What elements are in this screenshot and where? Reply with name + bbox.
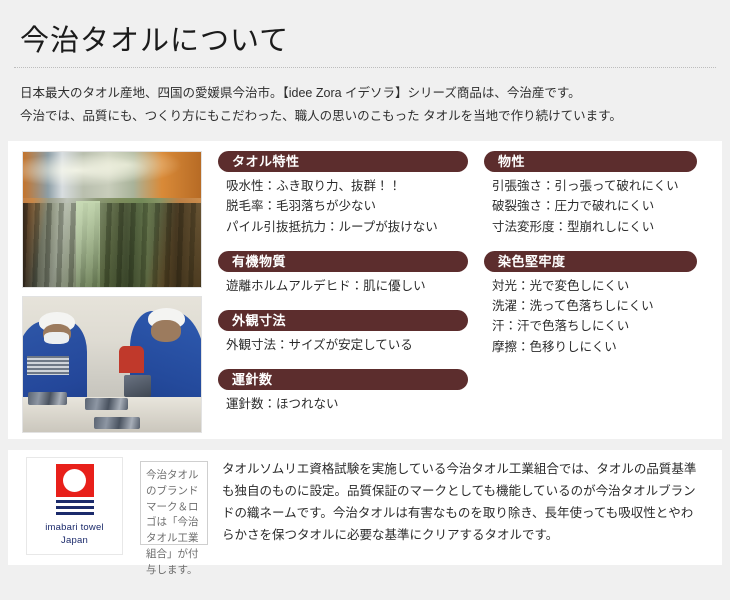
spec-line: 破裂強さ：圧力で破れにくい (492, 196, 714, 216)
worker-face-right (151, 320, 181, 342)
brand-description: タオルソムリエ資格試験を実施している今治タオル工業組合では、タオルの品質基準も独… (222, 459, 712, 547)
spec-group-appearance-dimension: 外観寸法 外観寸法：サイズが安定している (218, 310, 476, 355)
spec-line: 運針数：ほつれない (226, 394, 476, 414)
spec-heading: 有機物質 (218, 251, 468, 272)
logo-caption-box: 今治タオルのブランドマーク＆ロゴは「今治タオル工業組合」が付与します。 (140, 461, 208, 545)
spec-column-right: 物性 引張強さ：引っ張って破れにくい 破裂強さ：圧力で破れにくい 寸法変形度：型… (476, 151, 714, 421)
spec-body: 運針数：ほつれない (218, 390, 476, 414)
spec-body: 吸水性：ふき取り力、抜群！！ 脱毛率：毛羽落ちが少ない パイル引抜抵抗力：ループ… (218, 172, 476, 237)
logo-white-circle-icon (63, 469, 86, 492)
folded-towel (94, 417, 140, 429)
spec-line: 吸水性：ふき取り力、抜群！！ (226, 176, 476, 196)
logo-brand-line-1: imabari towel (45, 522, 104, 535)
spec-line: 対光：光で変色しにくい (492, 276, 714, 296)
spec-group-organic-substance: 有機物質 遊離ホルムアルデヒド：肌に優しい (218, 251, 476, 296)
imabari-towel-logo: imabari towel Japan (26, 457, 123, 555)
spec-body: 引張強さ：引っ張って破れにくい 破裂強さ：圧力で破れにくい 寸法変形度：型崩れし… (484, 172, 714, 237)
title-divider (14, 67, 716, 68)
intro-line-2: 今治では、品質にも、つくり方にもこだわった、職人の思いのこもった タオルを当地で… (20, 105, 716, 128)
spec-panel: タオル特性 吸水性：ふき取り力、抜群！！ 脱毛率：毛羽落ちが少ない パイル引抜抵… (8, 141, 722, 439)
workers-folding-photo (22, 296, 202, 433)
spec-body: 遊離ホルムアルデヒド：肌に優しい (218, 272, 476, 296)
spec-heading: 外観寸法 (218, 310, 468, 331)
brand-panel: imabari towel Japan 今治タオルのブランドマーク＆ロゴは「今治… (8, 450, 722, 565)
spec-group-stitch-count: 運針数 運針数：ほつれない (218, 369, 476, 414)
worker-mask (44, 332, 69, 344)
intro-line-1: 日本最大のタオル産地、四国の愛媛県今治市。【idee Zora イデソラ】シリー… (20, 82, 716, 105)
logo-red-square-icon (56, 464, 94, 497)
intro-text: 日本最大のタオル産地、四国の愛媛県今治市。【idee Zora イデソラ】シリー… (14, 82, 716, 128)
logo-blue-bars-icon (56, 500, 94, 518)
spec-columns: タオル特性 吸水性：ふき取り力、抜群！！ 脱毛率：毛羽落ちが少ない パイル引抜抵… (204, 151, 714, 421)
folded-towel (28, 392, 67, 406)
spec-line: 寸法変形度：型崩れしにくい (492, 217, 714, 237)
factory-aisle (76, 201, 99, 287)
page-title: 今治タオルについて (14, 24, 716, 67)
spec-line: 遊離ホルムアルデヒド：肌に優しい (226, 276, 476, 296)
logo-brand-line-2: Japan (45, 535, 104, 548)
spec-line: 外観寸法：サイズが安定している (226, 335, 476, 355)
spec-group-towel-properties: タオル特性 吸水性：ふき取り力、抜群！！ 脱毛率：毛羽落ちが少ない パイル引抜抵… (218, 151, 476, 237)
spec-group-color-fastness: 染色堅牢度 対光：光で変色しにくい 洗濯：洗って色落ちしにくい 汗：汗で色落ちし… (484, 251, 714, 357)
spec-line: 汗：汗で色落ちしにくい (492, 316, 714, 336)
towel-stack (27, 356, 70, 375)
spec-line: 引張強さ：引っ張って破れにくい (492, 176, 714, 196)
folded-towel (124, 375, 151, 397)
spec-group-physical-properties: 物性 引張強さ：引っ張って破れにくい 破裂強さ：圧力で破れにくい 寸法変形度：型… (484, 151, 714, 237)
background-worker (119, 346, 144, 373)
logo-wordmark: imabari towel Japan (45, 522, 104, 548)
spec-line: 脱毛率：毛羽落ちが少ない (226, 196, 476, 216)
page-header: 今治タオルについて 日本最大のタオル産地、四国の愛媛県今治市。【idee Zor… (0, 0, 730, 128)
spec-line: 洗濯：洗って色落ちしにくい (492, 296, 714, 316)
spec-line: パイル引抜抵抗力：ループが抜けない (226, 217, 476, 237)
spec-body: 対光：光で変色しにくい 洗濯：洗って色落ちしにくい 汗：汗で色落ちしにくい 摩擦… (484, 272, 714, 357)
spec-line: 摩擦：色移りしにくい (492, 337, 714, 357)
spec-heading: 染色堅牢度 (484, 251, 697, 272)
spec-heading: 物性 (484, 151, 697, 172)
spec-column-left: タオル特性 吸水性：ふき取り力、抜群！！ 脱毛率：毛羽落ちが少ない パイル引抜抵… (218, 151, 476, 421)
spec-heading: タオル特性 (218, 151, 468, 172)
spec-body: 外観寸法：サイズが安定している (218, 331, 476, 355)
photo-column (16, 151, 204, 433)
spec-heading: 運針数 (218, 369, 468, 390)
folded-towel (85, 398, 128, 410)
weaving-factory-photo (22, 151, 202, 288)
